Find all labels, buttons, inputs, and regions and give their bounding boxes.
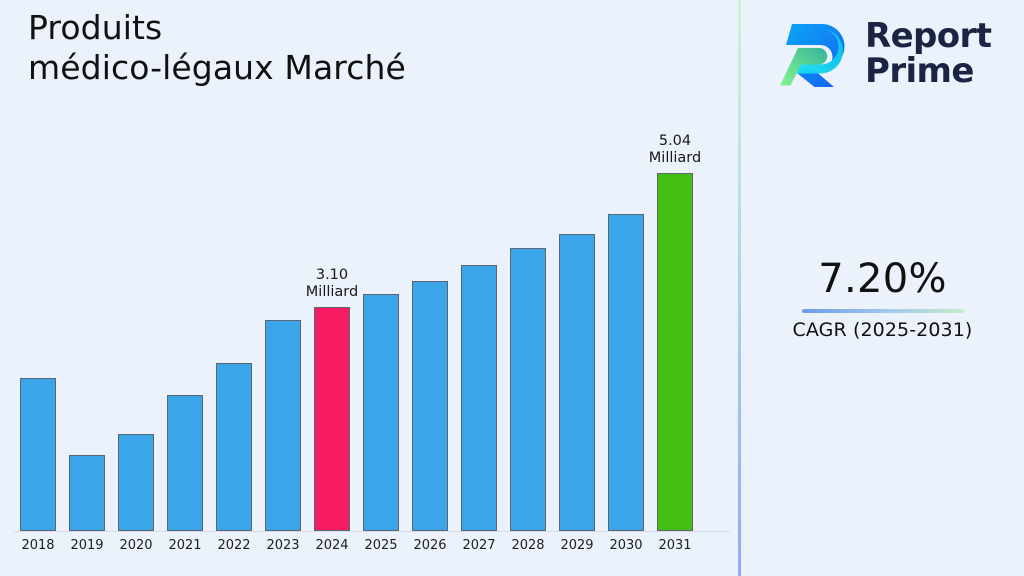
bar-2019[interactable] bbox=[69, 455, 105, 531]
bar-rect-2023[interactable] bbox=[265, 320, 301, 531]
bar-2031[interactable]: 5.04 Milliard bbox=[657, 173, 693, 531]
bar-rect-2019[interactable] bbox=[69, 455, 105, 531]
x-tick-2018: 2018 bbox=[20, 538, 56, 553]
x-tick-2029: 2029 bbox=[559, 538, 595, 553]
x-tick-2020: 2020 bbox=[118, 538, 154, 553]
bar-rect-2027[interactable] bbox=[461, 265, 497, 531]
x-tick-label-2020: 2020 bbox=[118, 538, 154, 553]
bar-rect-2025[interactable] bbox=[363, 294, 399, 531]
bar-rect-2024[interactable] bbox=[314, 307, 350, 531]
x-tick-label-2019: 2019 bbox=[69, 538, 105, 553]
brand-logo: Report Prime bbox=[775, 12, 1015, 96]
x-tick-2031: 2031 bbox=[657, 538, 693, 553]
x-tick-2025: 2025 bbox=[363, 538, 399, 553]
bar-rect-2031[interactable] bbox=[657, 173, 693, 531]
bar-2030[interactable] bbox=[608, 214, 644, 531]
x-tick-label-2025: 2025 bbox=[363, 538, 399, 553]
cagr-caption: CAGR (2025-2031) bbox=[741, 317, 1024, 343]
x-tick-label-2030: 2030 bbox=[608, 538, 644, 553]
bar-2025[interactable] bbox=[363, 294, 399, 531]
x-tick-2023: 2023 bbox=[265, 538, 301, 553]
x-axis-baseline bbox=[14, 531, 730, 532]
x-tick-2021: 2021 bbox=[167, 538, 203, 553]
x-tick-2026: 2026 bbox=[412, 538, 448, 553]
x-tick-label-2023: 2023 bbox=[265, 538, 301, 553]
x-tick-label-2021: 2021 bbox=[167, 538, 203, 553]
x-tick-label-2028: 2028 bbox=[510, 538, 546, 553]
report-prime-logo-icon bbox=[775, 18, 851, 90]
x-tick-2024: 2024 bbox=[314, 538, 350, 553]
bar-rect-2018[interactable] bbox=[20, 378, 56, 531]
chart-panel: Produits médico-légaux Marché 2018201920… bbox=[0, 0, 738, 576]
brand-wordmark: Report Prime bbox=[865, 19, 991, 89]
bar-2024[interactable]: 3.10 Milliard bbox=[314, 307, 350, 531]
x-tick-label-2022: 2022 bbox=[216, 538, 252, 553]
bar-value-label-2024: 3.10 Milliard bbox=[306, 267, 358, 301]
bar-rect-2030[interactable] bbox=[608, 214, 644, 531]
bar-rect-2021[interactable] bbox=[167, 395, 203, 531]
x-tick-label-2027: 2027 bbox=[461, 538, 497, 553]
x-tick-2030: 2030 bbox=[608, 538, 644, 553]
bar-2026[interactable] bbox=[412, 281, 448, 531]
bar-rect-2026[interactable] bbox=[412, 281, 448, 531]
bar-2028[interactable] bbox=[510, 248, 546, 531]
cagr-block: 7.20% CAGR (2025-2031) bbox=[741, 255, 1024, 343]
cagr-value: 7.20% bbox=[741, 255, 1024, 303]
bar-rect-2029[interactable] bbox=[559, 234, 595, 531]
x-tick-label-2029: 2029 bbox=[559, 538, 595, 553]
bar-rect-2020[interactable] bbox=[118, 434, 154, 531]
bar-2020[interactable] bbox=[118, 434, 154, 531]
x-tick-label-2026: 2026 bbox=[412, 538, 448, 553]
bar-value-label-2031: 5.04 Milliard bbox=[649, 133, 701, 167]
bar-chart-plot-area: 2018201920202021202220233.10 Milliard202… bbox=[0, 0, 738, 576]
bar-rect-2022[interactable] bbox=[216, 363, 252, 531]
bar-rect-2028[interactable] bbox=[510, 248, 546, 531]
bar-2018[interactable] bbox=[20, 378, 56, 531]
summary-panel: Report Prime 7.20% CAGR (2025-2031) bbox=[741, 0, 1024, 576]
bar-2027[interactable] bbox=[461, 265, 497, 531]
bar-2029[interactable] bbox=[559, 234, 595, 531]
x-tick-label-2018: 2018 bbox=[20, 538, 56, 553]
bar-2023[interactable] bbox=[265, 320, 301, 531]
x-tick-2019: 2019 bbox=[69, 538, 105, 553]
x-tick-2027: 2027 bbox=[461, 538, 497, 553]
x-tick-2028: 2028 bbox=[510, 538, 546, 553]
x-tick-2022: 2022 bbox=[216, 538, 252, 553]
bar-2021[interactable] bbox=[167, 395, 203, 531]
x-tick-label-2031: 2031 bbox=[657, 538, 693, 553]
bar-2022[interactable] bbox=[216, 363, 252, 531]
x-tick-label-2024: 2024 bbox=[314, 538, 350, 553]
infographic-root: Produits médico-légaux Marché 2018201920… bbox=[0, 0, 1024, 576]
cagr-divider-rule bbox=[802, 309, 964, 313]
